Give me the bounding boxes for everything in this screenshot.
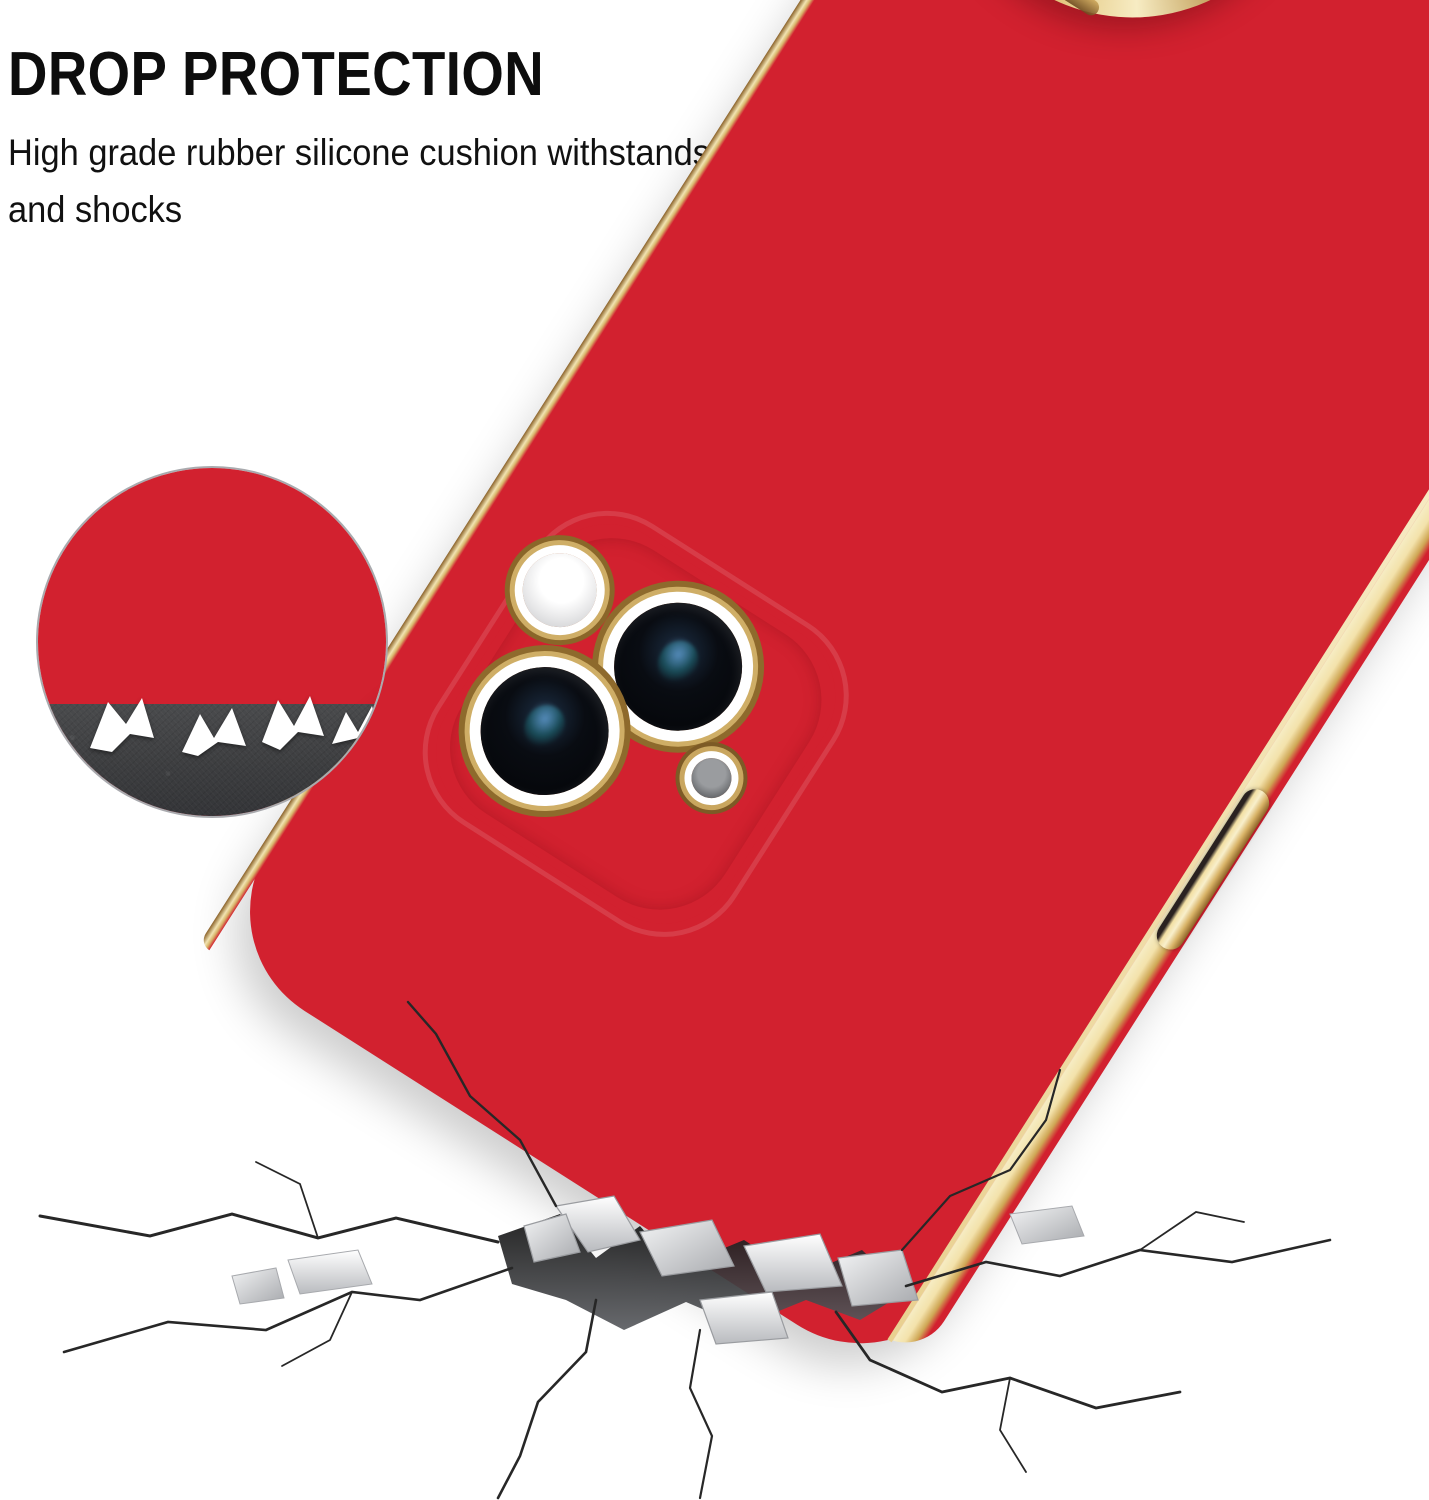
case-edge-right	[881, 79, 1429, 1360]
ring-holder	[880, 0, 1385, 87]
impact-spikes	[86, 694, 386, 758]
ring-outer-gold	[880, 0, 1385, 87]
camera-module	[408, 496, 864, 952]
ring-hinge	[988, 0, 1102, 18]
phone-case-body	[205, 0, 1429, 1388]
power-button	[1151, 784, 1274, 955]
detail-inset-circle	[36, 466, 388, 818]
